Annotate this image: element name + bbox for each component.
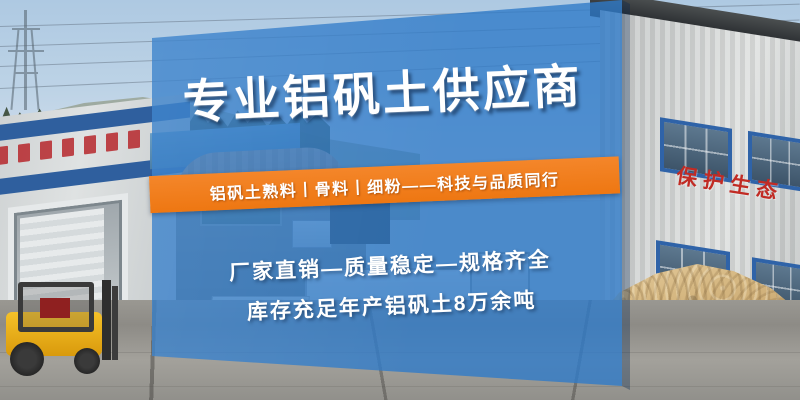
headline-title: 专业铝矾土供应商 xyxy=(147,58,619,129)
banner-text-block: 专业铝矾土供应商 铝矾土熟料丨骨料丨细粉——科技与品质同行 厂家直销—质量稳定—… xyxy=(144,0,630,400)
tagline-band: 铝矾土熟料丨骨料丨细粉——科技与品质同行 xyxy=(149,156,620,213)
subline-2: 库存充足年产铝矾土8万余吨 xyxy=(156,280,627,330)
tagline-text: 铝矾土熟料丨骨料丨细粉——科技与品质同行 xyxy=(209,165,560,204)
promotional-banner: 保护生态 专业铝矾土供应商 铝矾土熟料丨骨料丨细粉 xyxy=(0,0,800,400)
